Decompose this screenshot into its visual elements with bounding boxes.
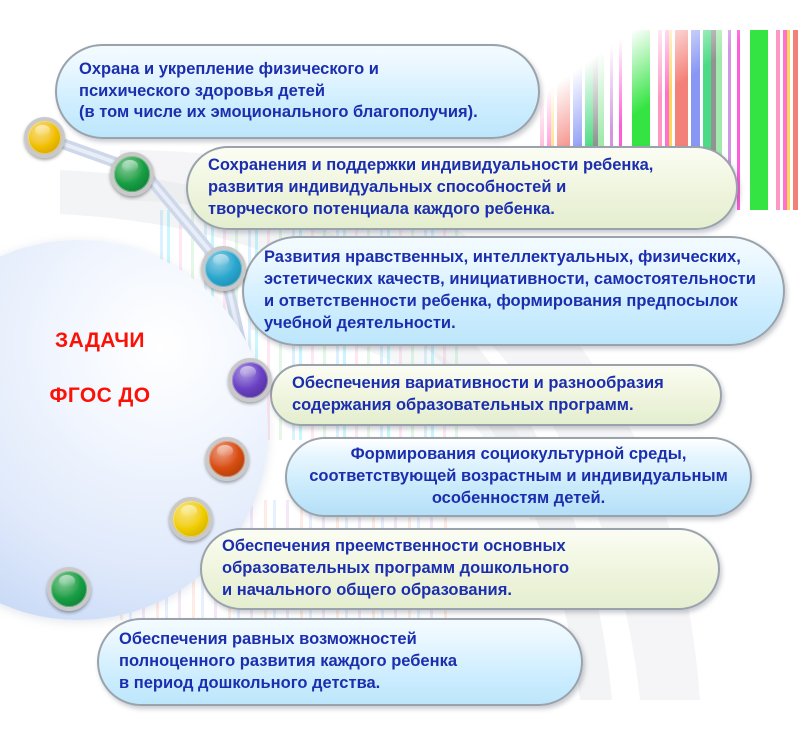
task-pill-7-line-1: Обеспечения равных возможностей bbox=[119, 629, 417, 651]
task-pill-4-line-2: содержания образовательных программ. bbox=[292, 395, 634, 417]
hub-title-line-2: ФГОС ДО bbox=[10, 385, 190, 406]
task-pill-1[interactable]: Охрана и укрепление физического и психич… bbox=[55, 44, 540, 139]
task-pill-7[interactable]: Обеспечения равных возможностей полноцен… bbox=[97, 618, 583, 706]
task-pill-2-line-2: развития индивидуальных способностей и bbox=[208, 177, 566, 199]
task-pill-1-line-3: (в том числе их эмоционального благополу… bbox=[79, 102, 478, 124]
task-pill-3-line-3: и ответственности ребенка, формирования … bbox=[264, 291, 738, 313]
task-pill-7-line-3: в период дошкольного детства. bbox=[119, 673, 380, 695]
task-pill-2-line-1: Сохранения и поддержки индивидуальности … bbox=[208, 155, 653, 177]
task-pill-4-line-1: Обеспечения вариативности и разнообразия bbox=[292, 373, 664, 395]
task-bullet-4[interactable] bbox=[228, 358, 272, 402]
infographic-canvas: ЗАДАЧИ ФГОС ДО Охрана и укрепление физич… bbox=[0, 0, 800, 735]
task-bullet-7[interactable] bbox=[47, 567, 91, 611]
task-pill-6-line-1: Обеспечения преемственности основных bbox=[222, 536, 566, 558]
task-pill-5-line-3: особенностям детей. bbox=[432, 488, 605, 510]
hub-title-line-1: ЗАДАЧИ bbox=[55, 329, 145, 352]
task-pill-3[interactable]: Развития нравственных, интеллектуальных,… bbox=[242, 236, 785, 346]
task-pill-6-line-3: и начального общего образования. bbox=[222, 580, 512, 602]
task-pill-7-line-2: полноценного развития каждого ребенка bbox=[119, 651, 457, 673]
task-pill-3-line-4: учебной деятельности. bbox=[264, 313, 456, 335]
task-bullet-2[interactable] bbox=[110, 152, 154, 196]
task-bullet-3[interactable] bbox=[201, 246, 246, 291]
task-pill-1-line-2: психического здоровья детей bbox=[79, 81, 325, 103]
task-pill-3-line-2: эстетических качеств, инициативности, са… bbox=[264, 269, 756, 291]
task-bullet-1[interactable] bbox=[24, 117, 65, 158]
task-pill-4[interactable]: Обеспечения вариативности и разнообразия… bbox=[270, 364, 722, 426]
task-pill-6-line-2: образовательных программ дошкольного bbox=[222, 558, 569, 580]
task-pill-2[interactable]: Сохранения и поддержки индивидуальности … bbox=[186, 146, 738, 230]
task-pill-2-line-3: творческого потенциала каждого ребенка. bbox=[208, 199, 555, 221]
task-pill-3-line-1: Развития нравственных, интеллектуальных,… bbox=[264, 247, 741, 269]
task-bullet-5[interactable] bbox=[205, 437, 249, 481]
task-pill-6[interactable]: Обеспечения преемственности основных обр… bbox=[200, 528, 720, 610]
task-pill-5-line-2: соответствующей возрастным и индивидуаль… bbox=[309, 466, 728, 488]
task-pill-1-line-1: Охрана и укрепление физического и bbox=[79, 59, 379, 81]
hub-title: ЗАДАЧИ ФГОС ДО bbox=[10, 330, 190, 406]
task-pill-5-line-1: Формирования социокультурной среды, bbox=[351, 444, 687, 466]
task-bullet-6[interactable] bbox=[169, 497, 213, 541]
task-pill-5[interactable]: Формирования социокультурной среды, соот… bbox=[285, 437, 752, 517]
